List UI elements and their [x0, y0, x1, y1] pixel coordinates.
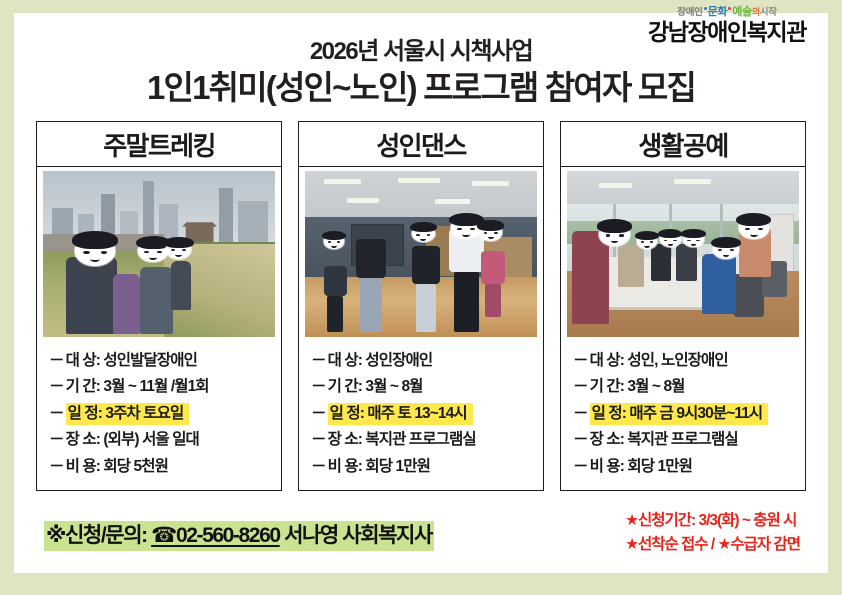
detail-row: －대 상: 성인발달장애인: [49, 347, 281, 374]
photo-dance: [305, 171, 537, 337]
detail-label: 기 간:: [66, 378, 100, 395]
detail-label: 기 간:: [328, 378, 362, 395]
detail-mark: －: [311, 378, 326, 395]
face-sticker: [713, 241, 739, 259]
poster-sheet: 장애인문화예술의시작 강남장애인복지관 2026년 서울시 시책사업 1인1취미…: [14, 13, 828, 573]
detail-row: －기 간: 3월 ~ 8월: [311, 374, 543, 401]
logo-tagline-part-3: 예술: [732, 6, 752, 18]
detail-value: 회당 1만원: [627, 458, 692, 475]
photo-ceiling-light: [347, 198, 379, 203]
logo-dot-blue: [704, 7, 707, 10]
detail-row-highlighted: －일 정: 매주 토 13~14시: [311, 400, 543, 427]
photo-trekking: [43, 171, 275, 337]
detail-value: 매주 토 13~14시: [367, 405, 466, 422]
detail-mark: －: [49, 352, 64, 369]
photo-person: [113, 274, 141, 334]
detail-value: 성인발달장애인: [103, 352, 197, 369]
detail-mark: －: [311, 352, 326, 369]
detail-label: 대 상:: [328, 352, 362, 369]
photo-person: [324, 266, 347, 332]
program-card-list: 주말트레킹: [36, 121, 806, 491]
photo-ceiling-light: [398, 178, 440, 183]
detail-mark: －: [49, 378, 64, 395]
photo-ceiling-light: [599, 183, 631, 188]
photo-building-tall: [219, 188, 233, 244]
detail-row: －기 간: 3월 ~ 11월 /월1회: [49, 374, 281, 401]
contact-phone-number[interactable]: 02-560-8260: [176, 524, 280, 547]
card-header-craft: 생활공예: [561, 122, 805, 167]
contact-text: ※신청/문의: ☎02-560-8260 서나영 사회복지사: [44, 521, 434, 551]
detail-value: 성인, 노인장애인: [627, 352, 727, 369]
photo-ceiling-light: [472, 181, 509, 186]
photo-chair: [734, 274, 764, 317]
photo-building: [238, 201, 268, 244]
photo-person: [618, 244, 644, 287]
poster-frame: 장애인문화예술의시작 강남장애인복지관 2026년 서울시 시책사업 1인1취미…: [0, 0, 842, 595]
face-sticker: [479, 224, 502, 241]
detail-label: 일 정:: [68, 405, 102, 422]
detail-mark: －: [49, 458, 64, 475]
detail-row: －장 소: (외부) 서울 일대: [49, 427, 281, 454]
application-notice: ★신청기간: 3/3(화) ~ 충원 시 ★선착순 접수 / ★수급자 감면: [625, 509, 800, 557]
card-title-trekking: 주말트레킹: [103, 126, 215, 163]
detail-label: 장 소:: [590, 431, 624, 448]
card-details-craft: －대 상: 성인, 노인장애인 －기 간: 3월 ~ 8월 －일 정: 매주 금…: [561, 339, 805, 490]
face-sticker: [75, 237, 114, 265]
detail-value: 3월 ~ 11월 /월1회: [103, 378, 208, 395]
detail-label: 대 상:: [66, 352, 100, 369]
detail-mark: －: [311, 458, 326, 475]
face-sticker: [599, 224, 629, 246]
photo-person: [651, 244, 672, 281]
logo-dot-red: [728, 7, 731, 10]
detail-label: 기 간:: [590, 378, 624, 395]
detail-value: 복지관 프로그램실: [365, 431, 475, 448]
detail-label: 비 용:: [590, 458, 624, 475]
card-header-dance: 성인댄스: [299, 122, 543, 167]
photo-person: [171, 261, 192, 311]
contact-prefix: ※신청/문의:: [46, 524, 151, 547]
contact-staff-name: 서나영 사회복지사: [280, 524, 432, 547]
face-sticker: [739, 217, 769, 239]
detail-row: －비 용: 회당 1만원: [311, 453, 543, 480]
detail-mark: －: [49, 431, 64, 448]
logo-tagline-part-2: 문화: [708, 6, 728, 18]
detail-mark: －: [311, 431, 326, 448]
detail-label: 장 소:: [66, 431, 100, 448]
detail-value: 3주차 토요일: [105, 405, 183, 422]
detail-row: －장 소: 복지관 프로그램실: [311, 427, 543, 454]
photo-ceiling-light: [324, 179, 361, 184]
photo-person: [481, 251, 504, 317]
detail-mark: －: [573, 431, 588, 448]
card-header-trekking: 주말트레킹: [37, 122, 281, 167]
detail-row: －비 용: 회당 1만원: [573, 453, 805, 480]
detail-mark: －: [311, 405, 326, 422]
card-photo-wrap-craft: [561, 167, 805, 339]
detail-label: 대 상:: [590, 352, 624, 369]
detail-row-highlighted: －일 정: 매주 금 9시30분~11시: [573, 400, 805, 427]
card-details-dance: －대 상: 성인장애인 －기 간: 3월 ~ 8월 －일 정: 매주 토 13~…: [299, 339, 543, 490]
logo-tagline-part-1: 장애인: [677, 7, 702, 18]
photo-person: [449, 229, 484, 332]
detail-mark: －: [573, 458, 588, 475]
detail-label: 일 정:: [592, 405, 626, 422]
detail-label: 장 소:: [328, 431, 362, 448]
detail-label: 일 정:: [330, 405, 364, 422]
phone-icon: ☎: [151, 524, 176, 547]
photo-person: [66, 257, 117, 333]
photo-ceiling-light: [674, 179, 711, 184]
photo-person: [356, 239, 386, 332]
logo-tagline-part-5: 시작: [760, 7, 777, 18]
photo-person: [676, 244, 697, 281]
poster-title: 1인1취미(성인~노인) 프로그램 참여자 모집: [14, 69, 828, 107]
photo-ceiling-light: [435, 199, 470, 204]
detail-label: 비 용:: [66, 458, 100, 475]
card-title-craft: 생활공예: [638, 126, 727, 163]
program-card-dance[interactable]: 성인댄스: [298, 121, 544, 491]
detail-label: 비 용:: [328, 458, 362, 475]
detail-row: －장 소: 복지관 프로그램실: [573, 427, 805, 454]
card-photo-wrap-dance: [299, 167, 543, 339]
detail-value: 매주 금 9시30분~11시: [629, 405, 762, 422]
card-details-trekking: －대 상: 성인발달장애인 －기 간: 3월 ~ 11월 /월1회 －일 정: …: [37, 339, 281, 490]
detail-value: 3월 ~ 8월: [365, 378, 422, 395]
notice-order: ★선착순 접수 / ★수급자 감면: [625, 533, 800, 557]
poster-subtitle: 2026년 서울시 시책사업: [14, 39, 828, 65]
card-photo-wrap-trekking: [37, 167, 281, 339]
detail-mark: －: [49, 405, 64, 422]
detail-row: －대 상: 성인장애인: [311, 347, 543, 374]
logo-tagline: 장애인문화예술의시작: [632, 7, 822, 20]
detail-value: (외부) 서울 일대: [103, 431, 199, 448]
notice-period: ★신청기간: 3/3(화) ~ 충원 시: [625, 509, 800, 533]
program-card-craft[interactable]: 생활공예: [560, 121, 806, 491]
detail-mark: －: [573, 378, 588, 395]
poster-footer: ※신청/문의: ☎02-560-8260 서나영 사회복지사 ★신청기간: 3/…: [36, 507, 806, 563]
detail-row: －비 용: 회당 5천원: [49, 453, 281, 480]
detail-mark: －: [573, 405, 588, 422]
photo-craft: [567, 171, 799, 337]
photo-person: [140, 267, 172, 333]
detail-row: －기 간: 3월 ~ 8월: [573, 374, 805, 401]
detail-value: 3월 ~ 8월: [627, 378, 684, 395]
detail-value: 회당 5천원: [103, 458, 168, 475]
photo-person: [572, 231, 609, 324]
detail-value: 성인장애인: [365, 352, 432, 369]
card-title-dance: 성인댄스: [376, 126, 465, 163]
contact-info: ※신청/문의: ☎02-560-8260 서나영 사회복지사: [44, 519, 434, 549]
photo-person: [702, 254, 737, 314]
photo-person: [412, 246, 440, 332]
detail-mark: －: [573, 352, 588, 369]
detail-value: 회당 1만원: [365, 458, 430, 475]
logo-tagline-part-4: 의: [752, 7, 760, 17]
detail-value: 복지관 프로그램실: [627, 431, 737, 448]
detail-row-highlighted: －일 정: 3주차 토요일: [49, 400, 281, 427]
program-card-trekking[interactable]: 주말트레킹: [36, 121, 282, 491]
detail-row: －대 상: 성인, 노인장애인: [573, 347, 805, 374]
poster-title-block: 2026년 서울시 시책사업 1인1취미(성인~노인) 프로그램 참여자 모집: [14, 39, 828, 107]
